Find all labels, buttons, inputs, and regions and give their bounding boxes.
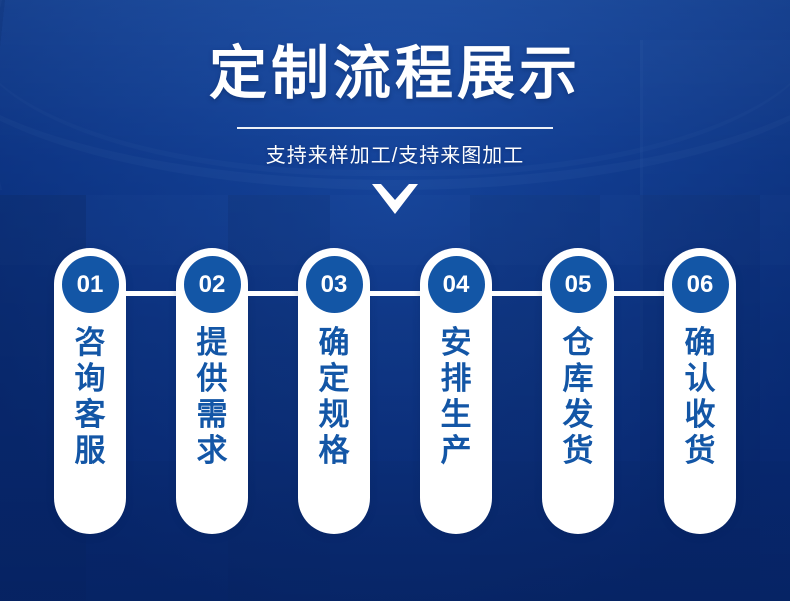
process-step-2[interactable]: 02 提供需求 bbox=[176, 248, 248, 534]
title-divider bbox=[237, 127, 553, 129]
step-number-badge: 03 bbox=[306, 256, 363, 313]
step-label: 确定规格 bbox=[316, 325, 352, 469]
step-number-badge: 01 bbox=[62, 256, 119, 313]
page-title: 定制流程展示 bbox=[0, 44, 790, 105]
step-connector bbox=[492, 291, 542, 296]
step-number-badge: 05 bbox=[550, 256, 607, 313]
step-connector bbox=[126, 291, 176, 296]
arrow-container bbox=[0, 184, 790, 214]
chevron-down-icon bbox=[372, 184, 418, 214]
step-connector bbox=[614, 291, 664, 296]
step-label: 安排生产 bbox=[438, 325, 474, 469]
process-step-1[interactable]: 01 咨询客服 bbox=[54, 248, 126, 534]
process-step-3[interactable]: 03 确定规格 bbox=[298, 248, 370, 534]
process-step-5[interactable]: 05 仓库发货 bbox=[542, 248, 614, 534]
step-label: 咨询客服 bbox=[72, 325, 108, 469]
step-number-badge: 02 bbox=[184, 256, 241, 313]
page-subtitle: 支持来样加工/支持来图加工 bbox=[0, 139, 790, 168]
step-connector bbox=[370, 291, 420, 296]
process-steps: 01 咨询客服 02 提供需求 03 确定规格 04 安排生产 05 仓库发货 … bbox=[0, 248, 790, 534]
step-connector bbox=[248, 291, 298, 296]
process-step-6[interactable]: 06 确认收货 bbox=[664, 248, 736, 534]
process-step-4[interactable]: 04 安排生产 bbox=[420, 248, 492, 534]
step-label: 仓库发货 bbox=[560, 325, 596, 469]
step-label: 提供需求 bbox=[194, 325, 230, 469]
step-number-badge: 06 bbox=[672, 256, 729, 313]
step-label: 确认收货 bbox=[682, 325, 718, 469]
step-number-badge: 04 bbox=[428, 256, 485, 313]
banner-header: 定制流程展示 支持来样加工/支持来图加工 bbox=[0, 44, 790, 214]
process-banner: 定制流程展示 支持来样加工/支持来图加工 01 咨询客服 02 提供需求 03 … bbox=[0, 0, 790, 601]
